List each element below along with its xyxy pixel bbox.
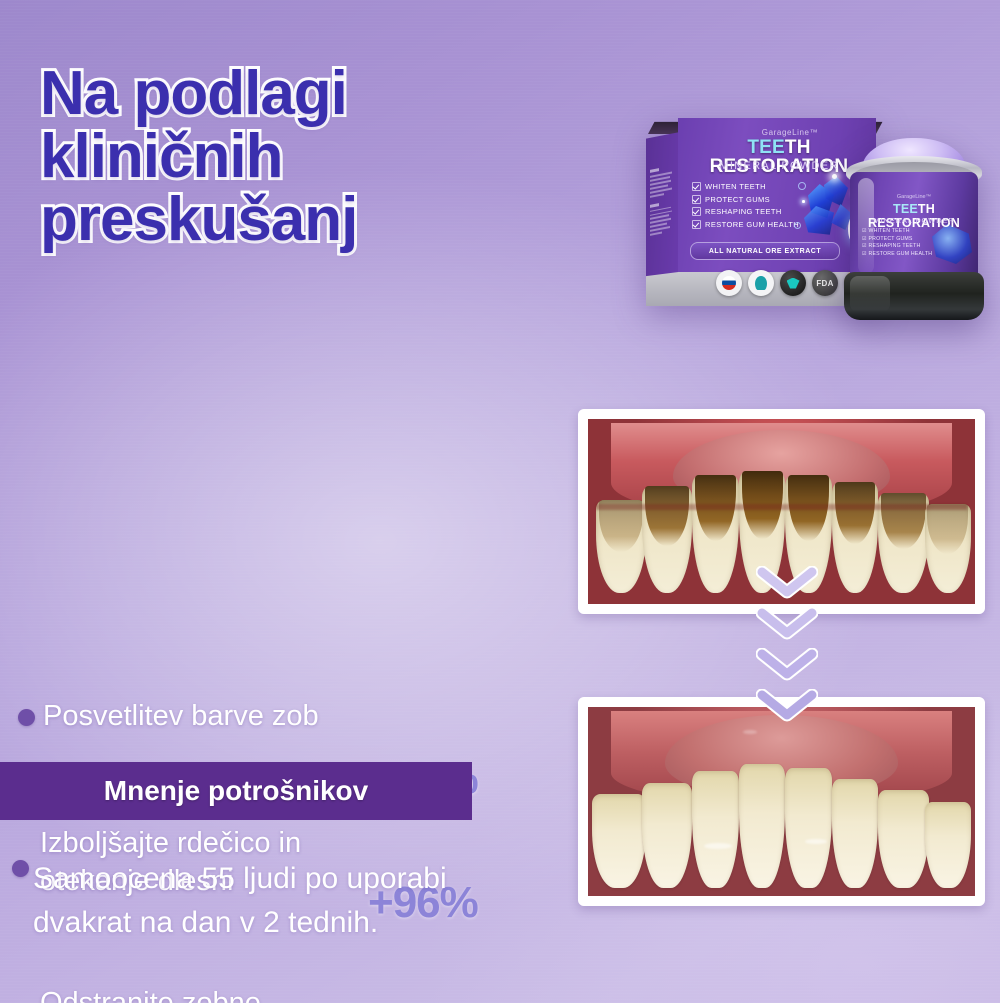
quality-shield-badge xyxy=(780,270,806,296)
checkbox-icon xyxy=(692,182,701,191)
sparkle-icon xyxy=(832,174,837,179)
box-ribbon: ALL NATURAL ORE EXTRACT xyxy=(690,242,840,260)
checkbox-icon xyxy=(692,220,701,229)
box-title-accent: TEE xyxy=(747,137,785,158)
chevron-down-icon xyxy=(756,607,818,643)
jar-cap xyxy=(844,272,984,320)
fda-badge: FDA xyxy=(812,270,838,296)
product-shot: GarageLine™ TEETH RESTORATION MINERAL PO… xyxy=(630,100,1000,330)
checkbox-icon xyxy=(692,207,701,216)
consumer-opinion-banner: Mnenje potrošnikov xyxy=(0,762,472,820)
chevron-down-icon xyxy=(756,648,818,684)
dental-approved-badge xyxy=(748,270,774,296)
feature-label: WHITEN TEETH xyxy=(705,182,766,191)
feature-label: RESTORE GUM HEALTH xyxy=(705,220,799,229)
product-jar: GarageLine™ TEETH RESTORATION MINERAL PO… xyxy=(840,132,988,324)
headline-line-2: kliničnih xyxy=(40,125,560,188)
sparkle-icon xyxy=(802,200,805,203)
feature-label: ☑ RESHAPING TEETH xyxy=(862,243,948,249)
made-in-slovenia-badge xyxy=(716,270,742,296)
jar-brand: GarageLine™ xyxy=(868,194,960,200)
jar-feature-list: ☑ WHITEN TEETH ☑ PROTECT GUMS ☑ RESHAPIN… xyxy=(862,228,948,258)
benefit-label: Posvetlitev barve zob xyxy=(43,698,319,736)
feature-label: ☑ WHITEN TEETH xyxy=(862,228,948,234)
box-side-text xyxy=(650,165,674,238)
chevron-down-icon xyxy=(756,689,818,725)
feature-label: ☑ RESTORE GUM HEALTH xyxy=(862,251,948,257)
feature-label: RESHAPING TEETH xyxy=(705,207,782,216)
checkbox-icon xyxy=(692,195,701,204)
feature-label: ☑ PROTECT GUMS xyxy=(862,236,948,242)
study-footnote: Samoocena 55 ljudi po uporabi dvakrat na… xyxy=(33,857,578,944)
bullet-dot-icon xyxy=(18,709,35,726)
transition-arrows xyxy=(742,566,842,738)
headline-line-3: preskušanj xyxy=(40,188,560,251)
ad-canvas: Na podlagi kliničnih preskušanj Posvetli… xyxy=(0,0,1000,1003)
box-side-face xyxy=(646,132,680,297)
jar-title-accent: TEE xyxy=(893,202,918,216)
banner-label: Mnenje potrošnikov xyxy=(104,775,368,807)
headline-line-1: Na podlagi xyxy=(40,62,560,125)
chevron-down-icon xyxy=(756,566,818,602)
benefit-label: Odstranite zobne obloge xyxy=(40,985,261,1003)
feature-label: PROTECT GUMS xyxy=(705,195,770,204)
bullet-dot-icon xyxy=(12,860,29,877)
page-title: Na podlagi kliničnih preskušanj xyxy=(40,62,560,252)
ribbon-label: ALL NATURAL ORE EXTRACT xyxy=(709,248,821,255)
jar-subtitle: MINERAL POWDER xyxy=(852,216,976,225)
